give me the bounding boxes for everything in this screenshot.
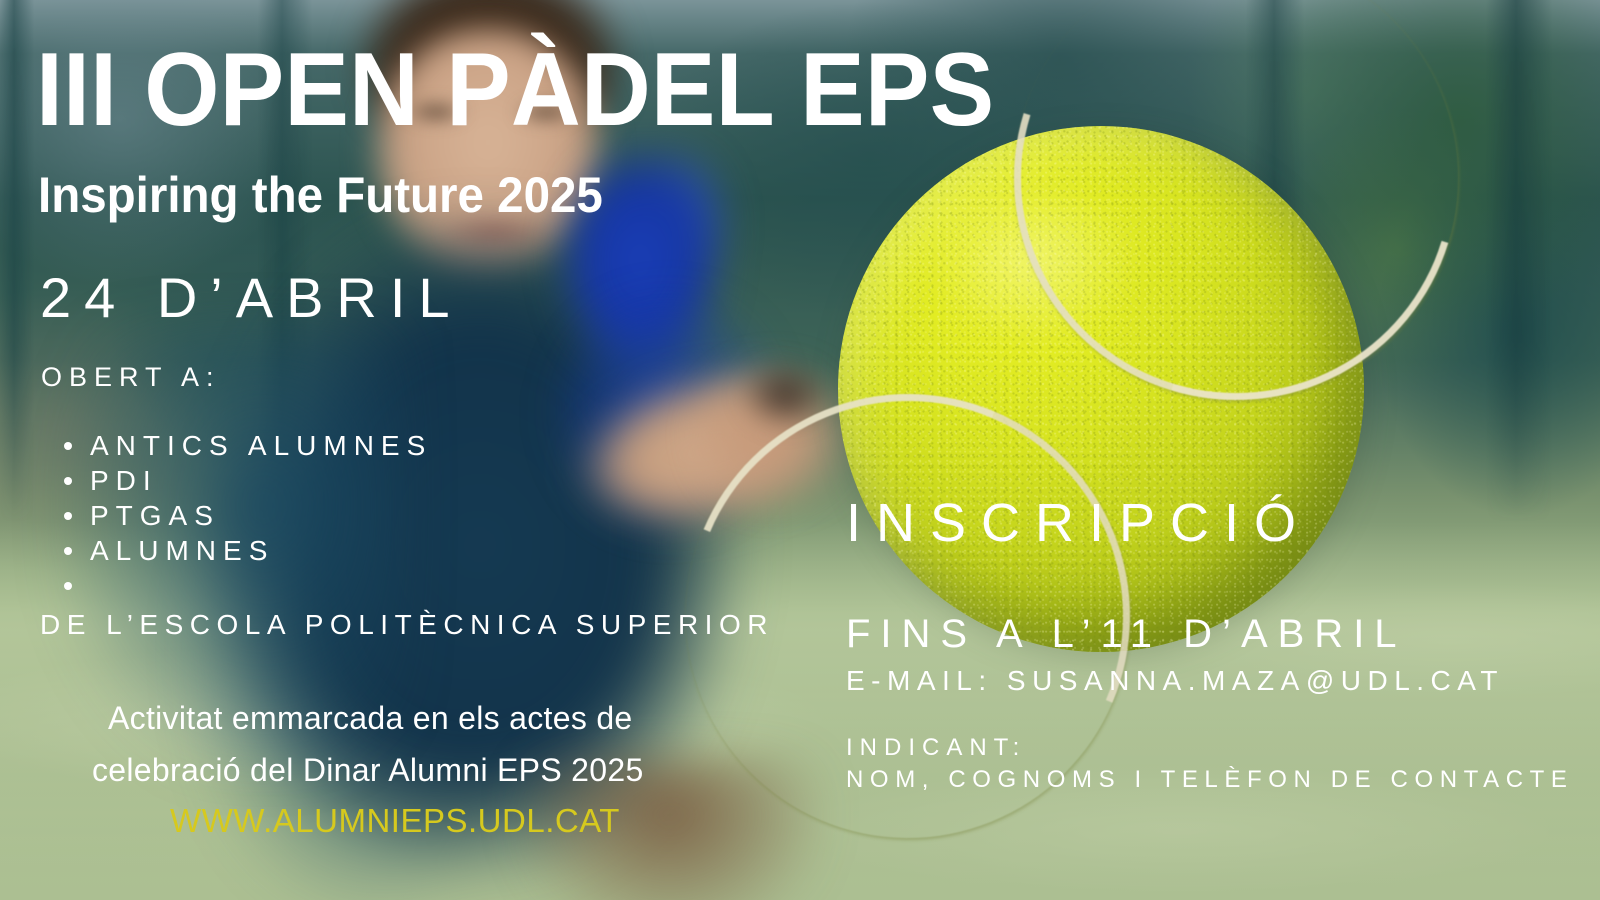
player-hand-icon: [700, 360, 860, 510]
poster-canvas: III OPEN PÀDEL EPS Inspiring the Future …: [0, 0, 1600, 900]
racket-grip-icon: [740, 360, 830, 430]
tennis-ball-image: [838, 126, 1364, 652]
school-name: DE L’ESCOLA POLITÈCNICA SUPERIOR: [40, 609, 774, 641]
registration-deadline: FINS A L’11 D’ABRIL: [846, 612, 1407, 657]
tennis-ball-felt-texture: [838, 126, 1364, 652]
event-date: 24 D’ABRIL: [40, 265, 463, 330]
tennis-ball-shadow: [844, 136, 1364, 656]
tennis-ball-body: [838, 126, 1364, 652]
list-item: ANTICS ALUMNES: [82, 428, 432, 463]
list-item: ALUMNES: [82, 533, 432, 568]
tennis-ball-seam-upper: [936, 0, 1536, 478]
note-line-2: celebració del Dinar Alumni EPS 2025: [92, 752, 644, 789]
required-details: NOM, COGNOMS I TELÈFON DE CONTACTE: [846, 766, 1574, 794]
poster-subtitle: Inspiring the Future 2025: [38, 166, 603, 224]
note-line-1: Activitat emmarcada en els actes de: [108, 700, 633, 737]
contact-email[interactable]: E-MAIL: SUSANNA.MAZA@UDL.CAT: [846, 665, 1504, 697]
registration-heading: INSCRIPCIÓ: [846, 492, 1311, 554]
audience-list: ANTICS ALUMNES PDI PTGAS ALUMNES: [56, 428, 432, 568]
player-arm-icon: [536, 302, 884, 619]
poster-title: III OPEN PÀDEL EPS: [36, 36, 994, 145]
padel-racket-lower-icon: [560, 300, 780, 530]
list-item: PTGAS: [82, 498, 432, 533]
open-to-label: OBERT A:: [41, 362, 221, 393]
padel-racket-icon: [520, 110, 770, 440]
tennis-ball-highlight: [928, 182, 1138, 342]
list-item: PDI: [82, 463, 432, 498]
indicant-label: INDICANT:: [846, 734, 1026, 762]
website-link[interactable]: WWW.ALUMNIEPS.UDL.CAT: [170, 802, 620, 840]
